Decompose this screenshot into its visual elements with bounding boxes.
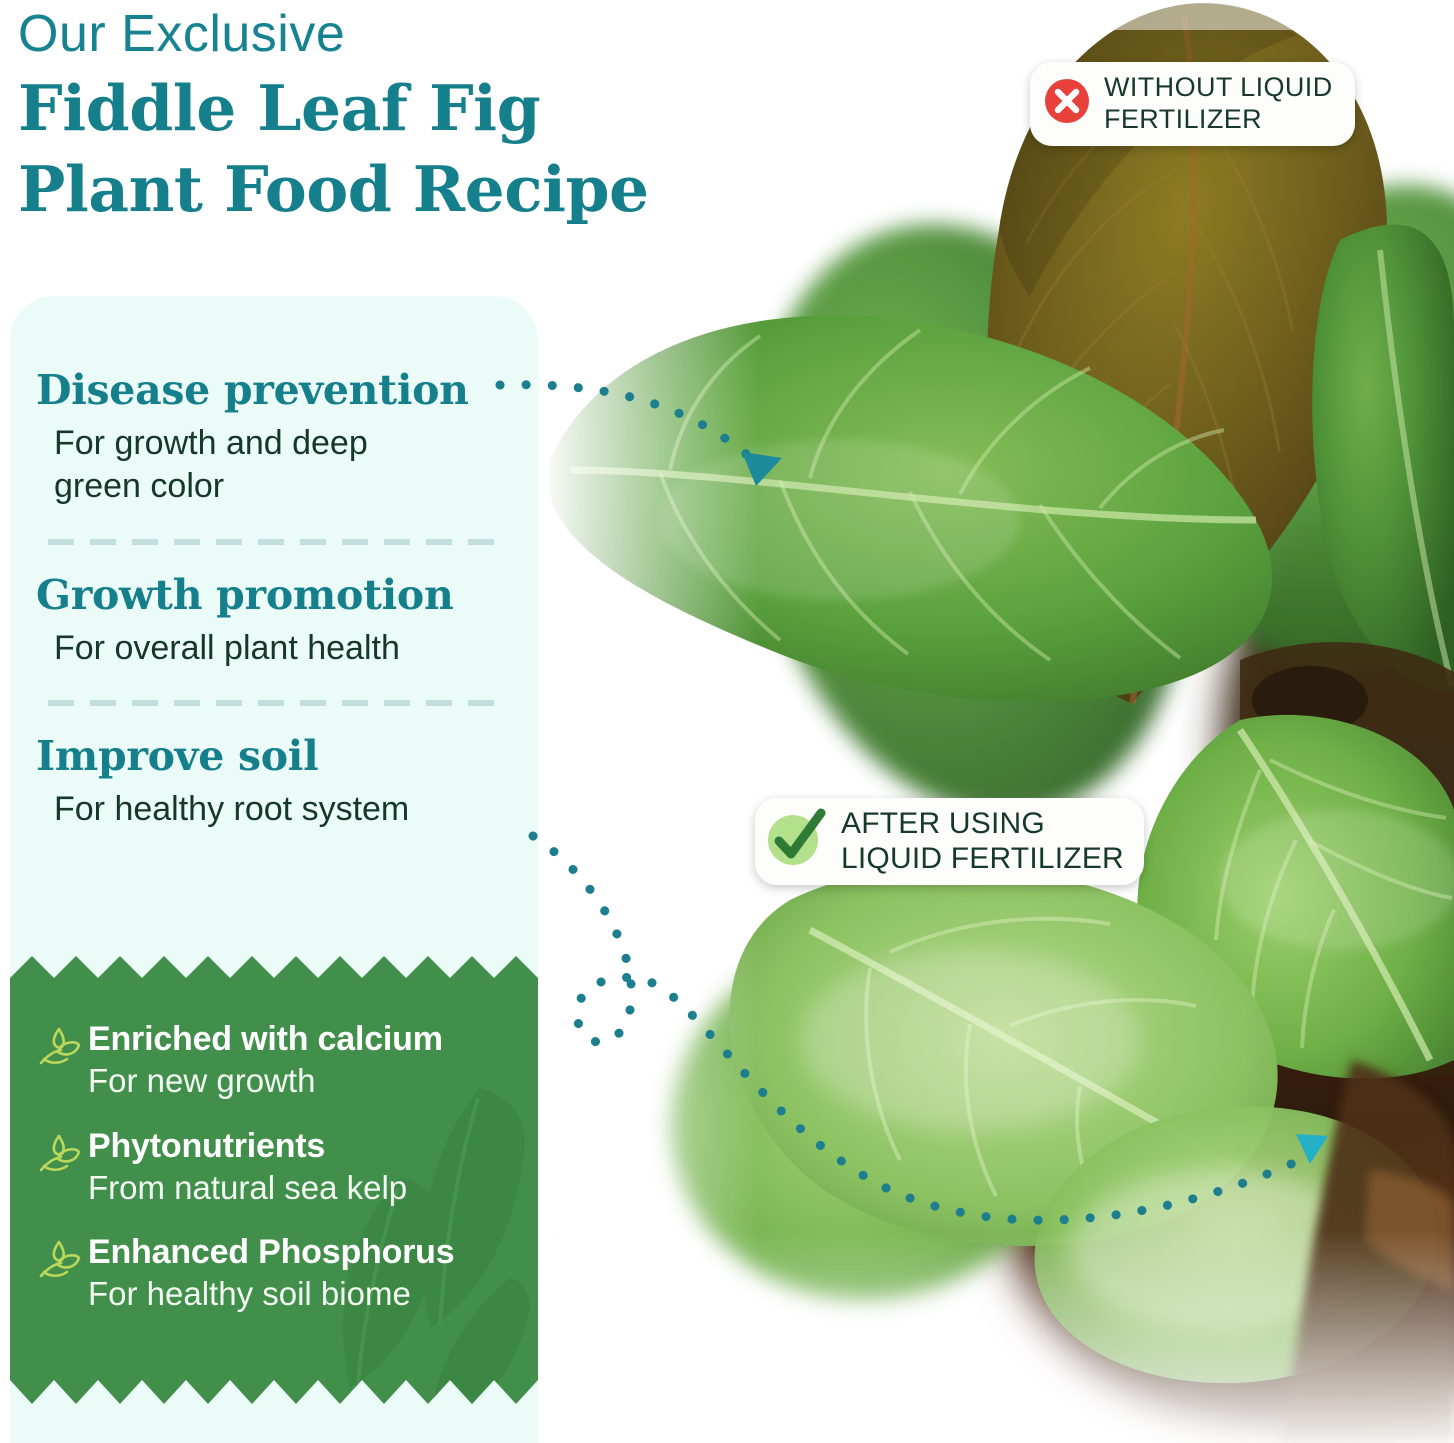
feature-heading: Enhanced Phosphorus: [88, 1233, 520, 1271]
benefit-subtext: For overall plant health: [36, 627, 512, 671]
features-list: Enriched with calcium For new growth Phy…: [10, 948, 538, 1340]
features-panel: Enriched with calcium For new growth Phy…: [10, 948, 538, 1443]
benefit-item: Growth promotion For overall plant healt…: [36, 573, 512, 670]
leaf-drop-icon: [36, 1237, 88, 1290]
title-main: Fiddle Leaf Fig Plant Food Recipe: [18, 68, 718, 229]
title-line-2: Plant Food Recipe: [18, 149, 718, 230]
badge-label: AFTER USING LIQUID FERTILIZER: [841, 806, 1124, 877]
benefits-list: Disease prevention For growth and deep g…: [10, 296, 538, 832]
feature-item: Phytonutrients From natural sea kelp: [36, 1127, 520, 1208]
benefit-heading: Disease prevention: [36, 368, 512, 414]
benefit-subtext: For growth and deep green color: [36, 422, 512, 509]
feature-text: Enriched with calcium For new growth: [88, 1020, 520, 1101]
green-check-circle-icon: [765, 808, 829, 875]
benefit-divider: [48, 700, 500, 706]
leaf-drop-icon: [36, 1024, 88, 1077]
page-title: Our Exclusive Fiddle Leaf Fig Plant Food…: [18, 6, 718, 229]
badge-label: WITHOUT LIQUID FERTILIZER: [1104, 72, 1333, 136]
title-eyebrow: Our Exclusive: [18, 6, 718, 62]
status-badge-without-fertilizer[interactable]: WITHOUT LIQUID FERTILIZER: [1030, 62, 1355, 146]
status-badge-after-fertilizer[interactable]: AFTER USING LIQUID FERTILIZER: [755, 798, 1144, 885]
feature-text: Enhanced Phosphorus For healthy soil bio…: [88, 1233, 520, 1314]
feature-heading: Phytonutrients: [88, 1127, 520, 1165]
benefit-heading: Improve soil: [36, 734, 512, 780]
leaf-drop-icon: [36, 1131, 88, 1184]
feature-item: Enriched with calcium For new growth: [36, 1020, 520, 1101]
feature-subtext: From natural sea kelp: [88, 1168, 520, 1208]
benefit-divider: [48, 539, 500, 545]
feature-subtext: For new growth: [88, 1061, 520, 1101]
benefit-item: Improve soil For healthy root system: [36, 734, 512, 831]
benefit-heading: Growth promotion: [36, 573, 512, 619]
infographic-root: Our Exclusive Fiddle Leaf Fig Plant Food…: [0, 0, 1454, 1443]
benefit-subtext: For healthy root system: [36, 788, 512, 832]
feature-subtext: For healthy soil biome: [88, 1274, 520, 1314]
feature-text: Phytonutrients From natural sea kelp: [88, 1127, 520, 1208]
feature-item: Enhanced Phosphorus For healthy soil bio…: [36, 1233, 520, 1314]
red-x-circle-icon: [1042, 76, 1092, 131]
title-line-1: Fiddle Leaf Fig: [18, 71, 540, 145]
feature-heading: Enriched with calcium: [88, 1020, 520, 1058]
benefit-item: Disease prevention For growth and deep g…: [36, 368, 512, 509]
